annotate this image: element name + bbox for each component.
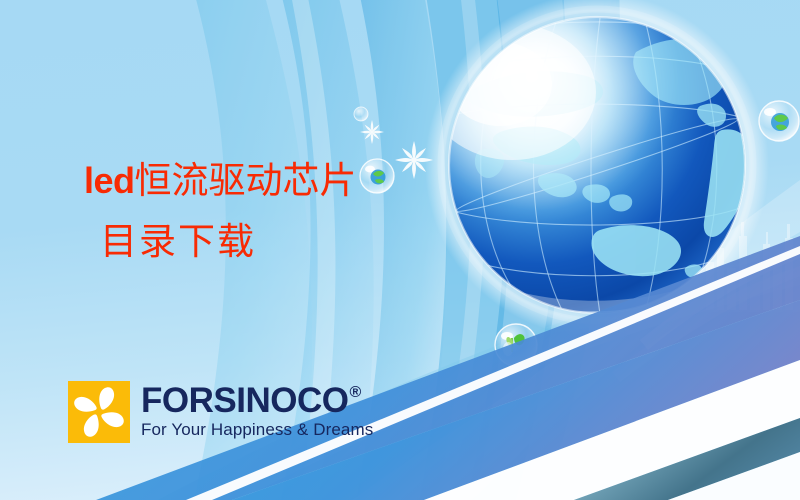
bubble-tiny — [354, 107, 368, 121]
pinwheel-icon — [68, 381, 130, 443]
petal-left — [73, 393, 97, 416]
logo-tagline: For Your Happiness & Dreams — [141, 420, 373, 440]
petal-top — [95, 386, 118, 410]
banner-image: led恒流驱动芯片 目录下载 FORSINOCO® For Your Happi… — [0, 0, 800, 500]
bubble-inner-globe-edge — [771, 113, 789, 131]
headline-line-2: 目录下载 — [100, 223, 504, 260]
logo-wordmark: FORSINOCO® — [141, 384, 373, 418]
registered-trademark-icon: ® — [349, 385, 360, 401]
headline-line-1: led恒流驱动芯片 — [84, 162, 504, 199]
headline-latin: led — [84, 160, 135, 201]
company-logo: FORSINOCO® For Your Happiness & Dreams — [68, 381, 373, 443]
forsinoco-pinwheel-mark — [68, 381, 130, 443]
bubble-globe-edge — [759, 101, 799, 141]
logo-wordmark-text: FORSINOCO — [141, 384, 348, 418]
petal-right — [101, 408, 125, 431]
pinwheel-petals — [73, 386, 126, 439]
petal-bottom — [80, 414, 103, 438]
logo-text-block: FORSINOCO® For Your Happiness & Dreams — [141, 384, 373, 440]
headline-block: led恒流驱动芯片 目录下载 — [84, 162, 504, 260]
headline-cjk: 恒流驱动芯片 — [135, 159, 357, 202]
